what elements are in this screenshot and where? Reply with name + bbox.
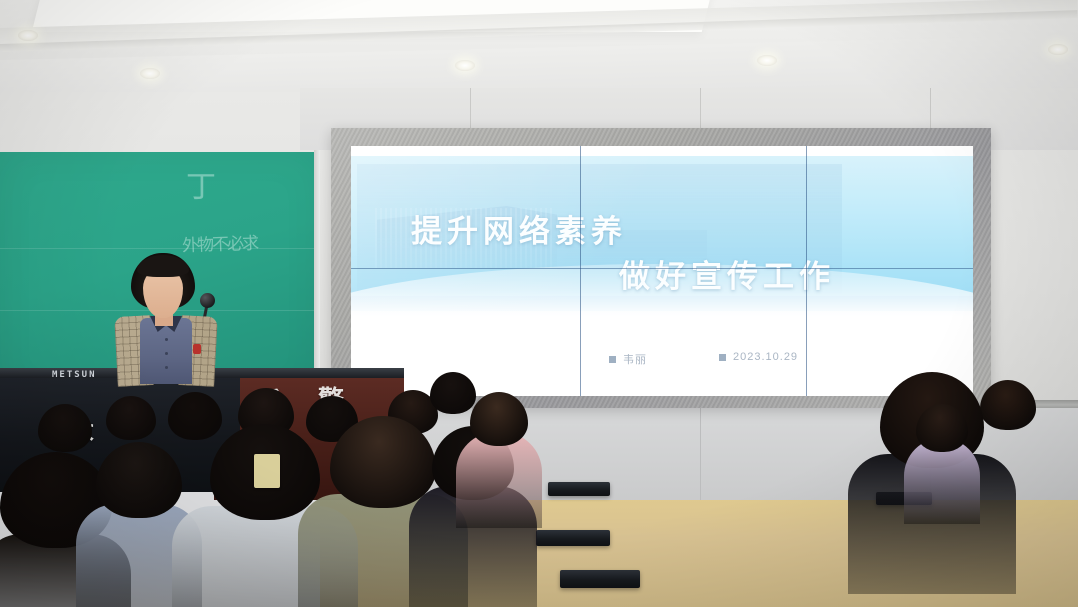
- attendee-shoulders: [456, 432, 542, 528]
- downlight-icon: [455, 60, 475, 71]
- gooseneck-microphone-icon: [200, 293, 215, 308]
- attendee-head: [38, 404, 92, 452]
- square-bullet-icon: [609, 356, 616, 363]
- attendee-head: [470, 392, 528, 446]
- chalkboard-frame: [314, 150, 320, 402]
- video-wall-seam: [806, 146, 807, 396]
- slide-title-line-1: 提升网络素养: [411, 206, 627, 251]
- downlight-icon: [1048, 44, 1068, 55]
- slide-presenter-name: 韦丽: [623, 351, 647, 367]
- slide-title-line-2: 做好宣传工作: [619, 251, 835, 296]
- speaker-shirt: [140, 318, 192, 384]
- podium-brand-label: METSUN: [52, 370, 97, 380]
- video-wall-seam: [351, 268, 973, 269]
- chalk-text-top: 丁: [186, 162, 216, 206]
- video-wall-seam: [580, 146, 581, 396]
- attendee-head: [916, 404, 968, 452]
- slide-date-text: 2023.10.29: [733, 351, 798, 363]
- downlight-icon: [18, 30, 38, 41]
- tablet-desk-3: [560, 570, 640, 588]
- presentation-screen[interactable]: 提升网络素养 做好宣传工作 韦丽 2023.10.29: [351, 146, 973, 396]
- attendee-head: [168, 392, 222, 440]
- tablet-desk-1: [548, 482, 610, 496]
- downlight-icon: [140, 68, 160, 79]
- slide-date: 2023.10.29: [719, 351, 798, 363]
- attendee-head: [106, 396, 156, 440]
- attendee-head: [430, 372, 476, 414]
- slide: 提升网络素养 做好宣传工作 韦丽 2023.10.29: [351, 146, 973, 396]
- attendee-head: [980, 380, 1036, 430]
- square-bullet-icon: [719, 354, 726, 361]
- lecture-hall-photo: 丁 外物不必求 提升网络素养 做好宣传工作 韦丽: [0, 0, 1078, 607]
- tablet-desk-2: [536, 530, 610, 546]
- speaker-badge: [193, 344, 201, 354]
- downlight-icon: [757, 55, 777, 66]
- slide-presenter: 韦丽: [609, 351, 647, 367]
- hair-clip-icon: [254, 454, 280, 488]
- chalk-text-bottom: 外物不必求: [182, 229, 258, 257]
